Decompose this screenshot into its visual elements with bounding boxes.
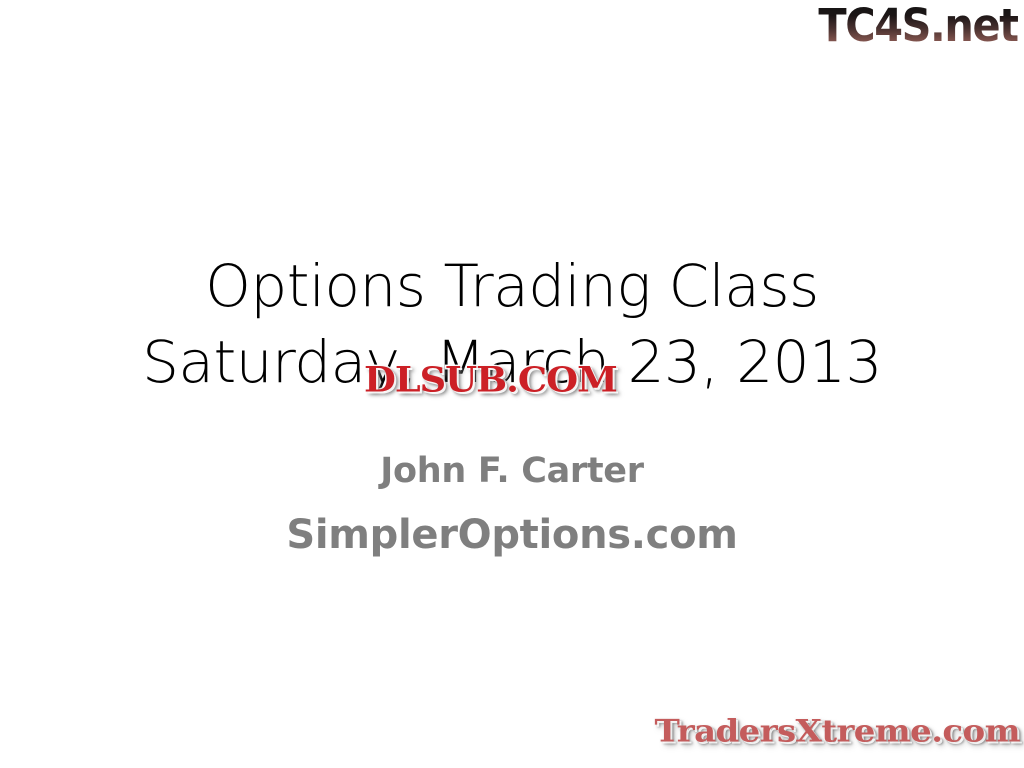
dlsub-com-watermark: DLSUB.COM	[364, 361, 617, 399]
tradersxtreme-com-watermark: TradersXtreme.com	[655, 712, 1020, 751]
tc4s-net-logo: TC4S.net	[819, 2, 1018, 50]
presenter-website: SimplerOptions.com	[0, 502, 1024, 568]
title-line-1: Options Trading Class	[0, 248, 1024, 324]
slide-subtitle: John F. Carter SimplerOptions.com	[0, 440, 1024, 568]
presenter-name: John F. Carter	[0, 440, 1024, 502]
presentation-slide: TC4S.net Options Trading Class Saturday,…	[0, 0, 1024, 768]
